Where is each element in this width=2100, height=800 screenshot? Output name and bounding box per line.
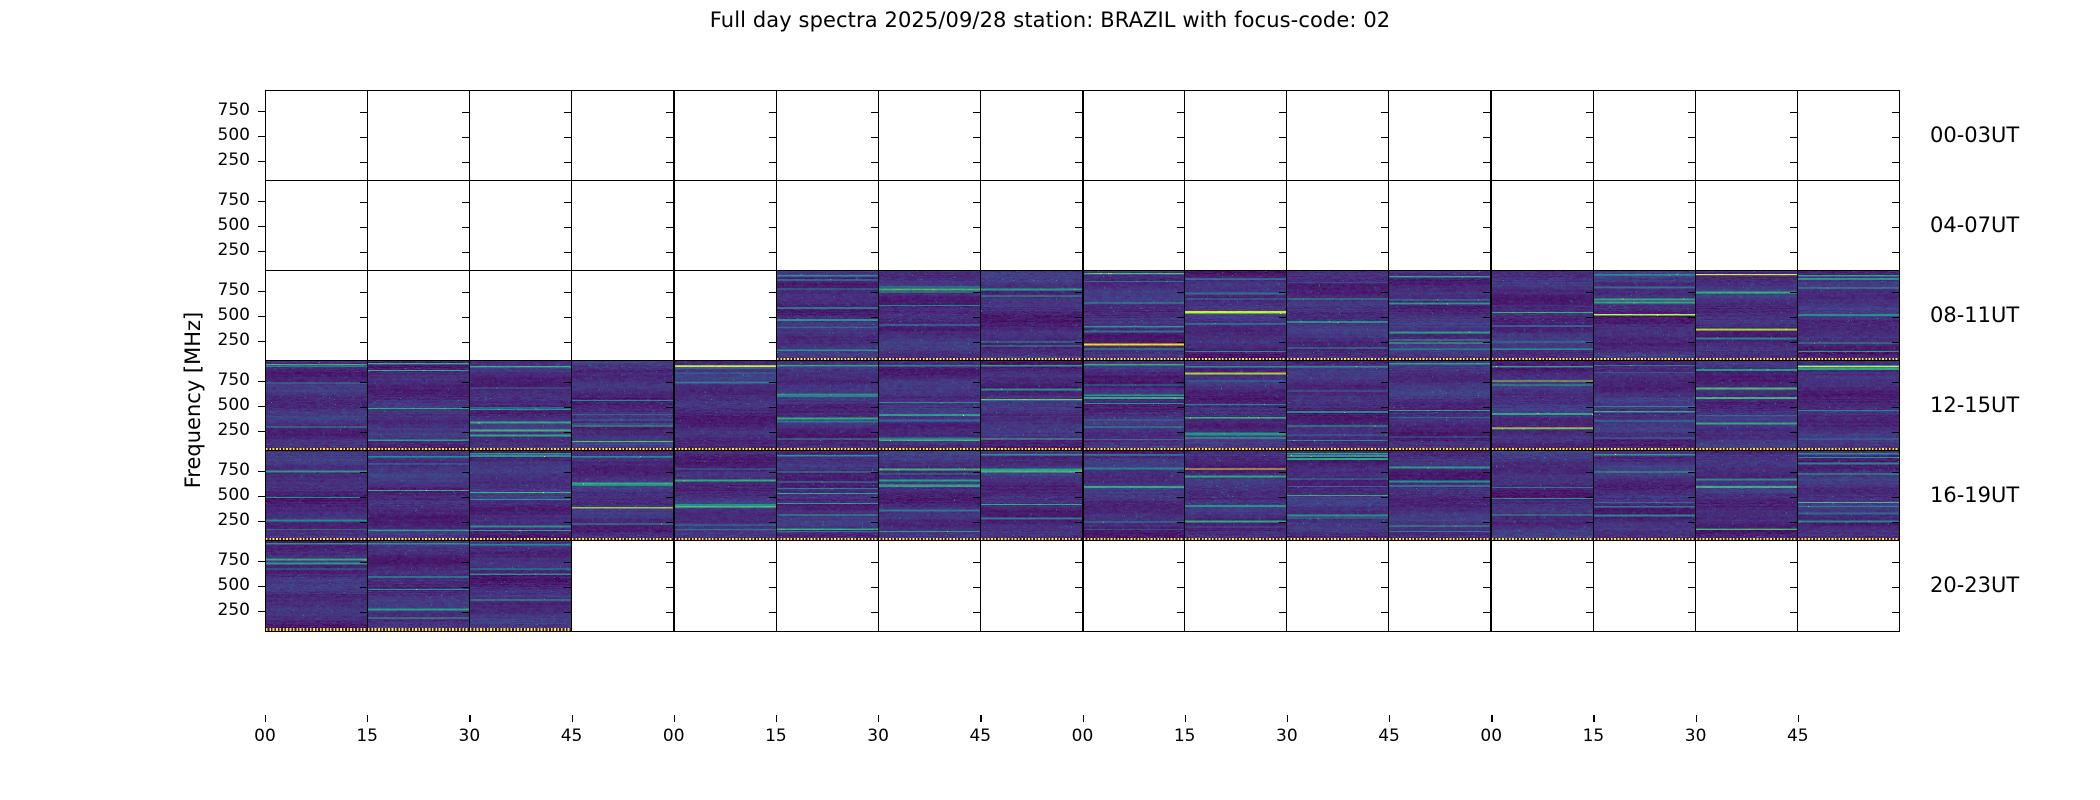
y-tick-mark <box>462 202 469 203</box>
y-tick-mark <box>1381 382 1388 383</box>
y-tick-mark <box>871 432 878 433</box>
y-tick-mark <box>769 112 776 113</box>
y-tick-mark <box>1892 522 1899 523</box>
y-tick-mark <box>871 162 878 163</box>
spectrogram-panel <box>1492 271 1594 361</box>
spectrogram-panel <box>675 451 777 541</box>
y-tick-mark <box>1177 202 1184 203</box>
x-tick-label: 45 <box>1369 726 1409 746</box>
spectrogram-panel <box>1185 361 1287 451</box>
spectrogram-panel <box>368 361 470 451</box>
spectrogram-panel <box>470 271 572 361</box>
y-tick-mark <box>564 317 571 318</box>
y-tick-mark <box>1586 137 1593 138</box>
spectrogram-panel <box>1287 541 1389 631</box>
spectrogram-panel <box>777 541 879 631</box>
y-tick-mark <box>1892 562 1899 563</box>
y-tick-mark <box>1177 522 1184 523</box>
y-tick-mark <box>360 497 367 498</box>
y-tick-mark <box>1790 227 1797 228</box>
spectrogram-image <box>1492 361 1593 451</box>
y-tick-mark <box>1279 252 1286 253</box>
y-tick-mark <box>769 317 776 318</box>
spectrogram-panel <box>266 541 368 631</box>
y-tick-mark-outer <box>258 521 265 522</box>
spectrogram-panel <box>981 451 1084 541</box>
y-tick-mark <box>1075 522 1082 523</box>
y-tick-mark <box>1688 522 1695 523</box>
y-tick-mark <box>666 202 673 203</box>
spectrogram-image <box>981 361 1082 451</box>
spectrogram-row-12-15ut <box>265 360 1900 452</box>
y-tick-mark <box>1075 382 1082 383</box>
x-tick-mark <box>265 715 266 722</box>
spectrogram-panel <box>1185 181 1287 271</box>
y-tick-mark <box>1790 202 1797 203</box>
spectrogram-panel <box>1696 451 1798 541</box>
y-tick-mark <box>1892 432 1899 433</box>
spectrogram-panel <box>1594 451 1696 541</box>
spectrogram-image <box>1798 361 1899 451</box>
spectrogram-image <box>470 451 571 541</box>
spectrogram-panel <box>1185 451 1287 541</box>
spectrogram-panel <box>1389 181 1492 271</box>
y-tick-mark <box>1586 382 1593 383</box>
x-tick-label: 00 <box>1063 726 1103 746</box>
y-tick-mark <box>1483 382 1490 383</box>
y-tick-mark <box>1177 587 1184 588</box>
y-tick-mark-outer <box>258 161 265 162</box>
y-tick-mark <box>1381 317 1388 318</box>
x-tick-mark <box>572 715 573 722</box>
spectrogram-panel <box>1798 541 1899 631</box>
spectrogram-panel <box>1798 361 1899 451</box>
spectrogram-panel <box>981 541 1084 631</box>
x-tick-mark <box>1185 715 1186 722</box>
y-tick-mark <box>462 497 469 498</box>
y-tick-mark <box>360 202 367 203</box>
y-tick-mark-outer <box>258 586 265 587</box>
figure-title: Full day spectra 2025/09/28 station: BRA… <box>0 8 2100 32</box>
spectrogram-panel <box>368 181 470 271</box>
y-tick-mark <box>462 612 469 613</box>
y-tick-mark <box>1892 472 1899 473</box>
y-tick-mark <box>1790 137 1797 138</box>
y-tick-mark <box>1790 612 1797 613</box>
spectrogram-image <box>1287 451 1388 541</box>
spectrogram-panel <box>572 541 675 631</box>
y-tick-mark <box>1177 612 1184 613</box>
y-tick-mark <box>1381 252 1388 253</box>
y-tick-mark <box>666 137 673 138</box>
spectrogram-panel <box>368 541 470 631</box>
spectrogram-panel <box>470 541 572 631</box>
y-tick-mark <box>1483 612 1490 613</box>
y-tick-mark <box>1790 497 1797 498</box>
y-tick-mark <box>1381 112 1388 113</box>
y-tick-mark <box>1688 562 1695 563</box>
y-tick-mark <box>1892 202 1899 203</box>
y-tick-mark <box>1075 227 1082 228</box>
y-tick-mark <box>973 407 980 408</box>
spectrogram-panel <box>1798 181 1899 271</box>
y-tick-mark <box>1892 137 1899 138</box>
y-tick-mark <box>1279 382 1286 383</box>
y-tick-mark <box>1075 562 1082 563</box>
y-tick-mark <box>1177 137 1184 138</box>
y-tick-mark <box>1688 227 1695 228</box>
spectrogram-panel <box>981 271 1084 361</box>
y-tick-mark <box>1075 292 1082 293</box>
spectrogram-image <box>1389 451 1490 541</box>
y-tick-mark <box>666 472 673 473</box>
y-tick-mark <box>973 292 980 293</box>
spectrogram-row-16-19ut <box>265 450 1900 542</box>
y-tick-mark <box>1381 292 1388 293</box>
y-tick-mark <box>871 612 878 613</box>
y-tick-mark <box>1177 432 1184 433</box>
y-tick-mark <box>666 252 673 253</box>
y-tick-mark <box>1381 612 1388 613</box>
y-tick-mark <box>973 112 980 113</box>
spectrogram-panel <box>879 91 981 181</box>
spectrogram-image <box>1287 361 1388 451</box>
y-tick-mark <box>1279 202 1286 203</box>
y-tick-mark-outer <box>258 406 265 407</box>
spectrogram-image <box>1084 361 1185 451</box>
y-tick-mark <box>1688 202 1695 203</box>
y-tick-mark <box>1688 382 1695 383</box>
y-tick-mark <box>1075 162 1082 163</box>
y-tick-mark <box>564 137 571 138</box>
spectrogram-panel <box>1798 271 1899 361</box>
y-tick-mark <box>360 137 367 138</box>
y-tick-mark <box>1279 407 1286 408</box>
spectrogram-image <box>1287 271 1388 361</box>
y-tick-mark <box>769 227 776 228</box>
y-tick-mark <box>1177 342 1184 343</box>
row-label-04-07ut: 04-07UT <box>1930 213 2019 237</box>
y-tick-mark <box>1381 522 1388 523</box>
y-tick-mark <box>1279 162 1286 163</box>
y-tick-mark <box>666 112 673 113</box>
spectrogram-image <box>1185 271 1286 361</box>
spectrogram-panel <box>675 91 777 181</box>
y-tick-mark <box>1688 137 1695 138</box>
y-tick-mark <box>564 497 571 498</box>
y-tick-mark <box>1586 472 1593 473</box>
y-tick-mark <box>1892 497 1899 498</box>
y-tick-mark <box>462 292 469 293</box>
y-tick-mark <box>666 562 673 563</box>
y-tick-mark <box>1586 227 1593 228</box>
y-tick-mark <box>769 497 776 498</box>
y-tick-mark <box>1177 252 1184 253</box>
y-tick-mark <box>1688 342 1695 343</box>
spectrogram-panel <box>470 181 572 271</box>
y-tick-mark <box>871 342 878 343</box>
y-tick-mark <box>1586 407 1593 408</box>
y-tick-mark <box>1483 137 1490 138</box>
y-tick-mark-outer <box>258 111 265 112</box>
spectrogram-image <box>1185 451 1286 541</box>
y-tick-mark <box>1177 112 1184 113</box>
y-tick-mark <box>1892 317 1899 318</box>
spectrogram-panel <box>1389 271 1492 361</box>
y-tick-mark <box>462 562 469 563</box>
y-tick-mark <box>1279 112 1286 113</box>
spectrogram-panel <box>1185 91 1287 181</box>
spectrogram-image <box>1696 451 1797 541</box>
spectrogram-panel <box>572 91 675 181</box>
x-tick-label: 30 <box>858 726 898 746</box>
spectrogram-panel <box>1185 541 1287 631</box>
y-tick-mark <box>1892 227 1899 228</box>
row-label-12-15ut: 12-15UT <box>1930 393 2019 417</box>
y-tick-mark-outer <box>258 201 265 202</box>
y-tick-mark <box>462 342 469 343</box>
spectrogram-panel <box>1084 451 1186 541</box>
x-tick-label: 15 <box>1573 726 1613 746</box>
spectrogram-panel <box>675 271 777 361</box>
y-tick-mark <box>1177 317 1184 318</box>
y-tick-mark <box>360 382 367 383</box>
y-tick-mark <box>1892 112 1899 113</box>
y-tick-mark <box>1688 317 1695 318</box>
y-tick-mark-outer <box>258 251 265 252</box>
spectrogram-panel <box>879 451 981 541</box>
x-tick-label: 30 <box>1676 726 1716 746</box>
y-tick-label: 500 <box>190 217 250 234</box>
y-tick-mark <box>360 587 367 588</box>
y-tick-label: 500 <box>190 487 250 504</box>
y-tick-mark <box>1075 472 1082 473</box>
y-tick-mark <box>1892 612 1899 613</box>
y-tick-mark-outer <box>258 316 265 317</box>
y-tick-mark <box>564 112 571 113</box>
spectrogram-panel <box>879 541 981 631</box>
y-tick-mark <box>360 292 367 293</box>
spectrogram-panel <box>266 361 368 451</box>
spectrogram-panel <box>368 271 470 361</box>
y-tick-mark <box>666 612 673 613</box>
y-tick-mark <box>1790 522 1797 523</box>
y-tick-mark <box>973 432 980 433</box>
spectrogram-image <box>1084 271 1185 361</box>
row-label-00-03ut: 00-03UT <box>1930 123 2019 147</box>
y-tick-mark-outer <box>258 291 265 292</box>
y-tick-mark <box>973 137 980 138</box>
y-tick-mark <box>1075 342 1082 343</box>
spectrogram-image <box>368 361 469 451</box>
y-tick-mark <box>1279 612 1286 613</box>
row-label-08-11ut: 08-11UT <box>1930 303 2019 327</box>
y-tick-label: 250 <box>190 242 250 259</box>
spectrogram-panel <box>981 181 1084 271</box>
spectrogram-image <box>1696 271 1797 361</box>
y-tick-mark-outer <box>258 136 265 137</box>
y-tick-mark <box>1790 587 1797 588</box>
y-tick-mark <box>1483 162 1490 163</box>
y-tick-mark <box>360 562 367 563</box>
x-tick-label: 30 <box>1267 726 1307 746</box>
y-tick-label: 750 <box>190 552 250 569</box>
y-tick-mark <box>871 522 878 523</box>
y-tick-mark <box>1279 342 1286 343</box>
y-tick-mark <box>1483 292 1490 293</box>
y-tick-mark <box>1892 252 1899 253</box>
spectrogram-panel <box>1594 181 1696 271</box>
spectrogram-panel <box>1084 541 1186 631</box>
y-tick-mark <box>564 522 571 523</box>
y-tick-mark <box>462 317 469 318</box>
spectrogram-panel <box>1287 91 1389 181</box>
y-tick-mark <box>1177 162 1184 163</box>
y-tick-mark <box>1586 497 1593 498</box>
y-tick-mark <box>1586 317 1593 318</box>
y-tick-mark <box>973 587 980 588</box>
y-tick-mark <box>360 407 367 408</box>
y-tick-mark <box>1586 202 1593 203</box>
y-tick-mark <box>564 162 571 163</box>
y-tick-mark <box>1381 342 1388 343</box>
y-tick-mark <box>1381 162 1388 163</box>
x-tick-label: 45 <box>960 726 1000 746</box>
spectrogram-image <box>879 451 980 541</box>
spectrogram-image <box>675 361 776 451</box>
spectrogram-row-00-03ut <box>265 90 1900 182</box>
y-tick-mark <box>1177 227 1184 228</box>
y-tick-mark <box>769 522 776 523</box>
y-tick-mark <box>1688 112 1695 113</box>
y-tick-mark <box>1177 497 1184 498</box>
spectrogram-panel <box>368 451 470 541</box>
y-tick-mark <box>973 227 980 228</box>
y-tick-mark <box>1790 432 1797 433</box>
y-tick-mark <box>1688 432 1695 433</box>
y-tick-mark <box>1688 252 1695 253</box>
y-tick-mark <box>769 407 776 408</box>
y-tick-mark <box>973 562 980 563</box>
y-tick-mark <box>1177 472 1184 473</box>
spectrogram-panel <box>777 91 879 181</box>
y-tick-mark <box>973 612 980 613</box>
y-tick-label: 750 <box>190 372 250 389</box>
spectrogram-image <box>675 451 776 541</box>
spectrogram-image <box>1185 361 1286 451</box>
y-tick-mark <box>871 562 878 563</box>
x-tick-label: 15 <box>756 726 796 746</box>
y-tick-mark <box>462 112 469 113</box>
y-tick-mark <box>1279 522 1286 523</box>
y-tick-mark <box>973 497 980 498</box>
y-tick-mark <box>462 382 469 383</box>
spectrogram-panel <box>1492 361 1594 451</box>
y-tick-label: 750 <box>190 282 250 299</box>
y-tick-mark-outer <box>258 226 265 227</box>
spectrogram-image <box>368 541 469 631</box>
x-tick-label: 45 <box>1778 726 1818 746</box>
spectrogram-panel <box>777 271 879 361</box>
spectrogram-panel <box>777 361 879 451</box>
y-tick-mark <box>1483 252 1490 253</box>
spectrogram-image <box>266 451 367 541</box>
y-tick-mark <box>1381 472 1388 473</box>
y-tick-mark <box>769 562 776 563</box>
spectrogram-panel <box>1084 361 1186 451</box>
spectrogram-image <box>266 541 367 631</box>
x-tick-mark <box>1083 715 1084 722</box>
y-tick-mark <box>462 252 469 253</box>
spectrogram-panel <box>675 541 777 631</box>
y-tick-label: 750 <box>190 102 250 119</box>
y-tick-mark <box>360 342 367 343</box>
y-tick-label: 250 <box>190 602 250 619</box>
spectrogram-image <box>1492 271 1593 361</box>
spectrogram-panel <box>1084 271 1186 361</box>
y-tick-mark <box>1586 587 1593 588</box>
y-tick-mark <box>564 292 571 293</box>
y-tick-mark <box>1279 317 1286 318</box>
y-tick-mark <box>1381 202 1388 203</box>
spectrogram-image <box>1594 361 1695 451</box>
y-tick-mark <box>462 587 469 588</box>
y-tick-mark <box>871 317 878 318</box>
x-tick-mark <box>367 715 368 722</box>
spectrogram-panel <box>675 361 777 451</box>
y-tick-mark <box>1279 562 1286 563</box>
y-tick-mark <box>973 472 980 473</box>
y-tick-mark <box>564 202 571 203</box>
spectrogram-panel <box>879 271 981 361</box>
y-tick-mark <box>1483 472 1490 473</box>
y-tick-mark <box>1075 317 1082 318</box>
spectrogram-panel <box>266 181 368 271</box>
y-tick-mark <box>1075 112 1082 113</box>
spectrogram-panel <box>1696 91 1798 181</box>
spectrogram-row-08-11ut <box>265 270 1900 362</box>
y-tick-mark <box>462 407 469 408</box>
y-tick-mark <box>1279 432 1286 433</box>
spectrogram-panel <box>1084 181 1186 271</box>
y-tick-mark <box>973 317 980 318</box>
spectrogram-image <box>368 451 469 541</box>
y-tick-mark <box>871 382 878 383</box>
y-tick-mark <box>871 292 878 293</box>
spectrogram-image <box>777 361 878 451</box>
y-tick-label: 500 <box>190 397 250 414</box>
y-tick-mark <box>1483 112 1490 113</box>
spectrogram-image <box>1084 451 1185 541</box>
y-tick-mark <box>564 612 571 613</box>
y-tick-mark <box>1279 472 1286 473</box>
y-tick-mark <box>564 587 571 588</box>
y-tick-mark <box>1892 407 1899 408</box>
row-label-16-19ut: 16-19UT <box>1930 483 2019 507</box>
y-tick-mark <box>1279 227 1286 228</box>
y-tick-mark <box>1586 112 1593 113</box>
spectrogram-panel <box>1492 541 1594 631</box>
y-tick-mark-outer <box>258 381 265 382</box>
spectrogram-panel <box>1492 181 1594 271</box>
y-tick-mark <box>666 342 673 343</box>
y-tick-mark <box>871 587 878 588</box>
y-tick-mark <box>1483 497 1490 498</box>
y-tick-mark <box>1483 407 1490 408</box>
spectrogram-panel <box>777 181 879 271</box>
spectrogram-image <box>1389 271 1490 361</box>
y-tick-mark <box>1586 432 1593 433</box>
